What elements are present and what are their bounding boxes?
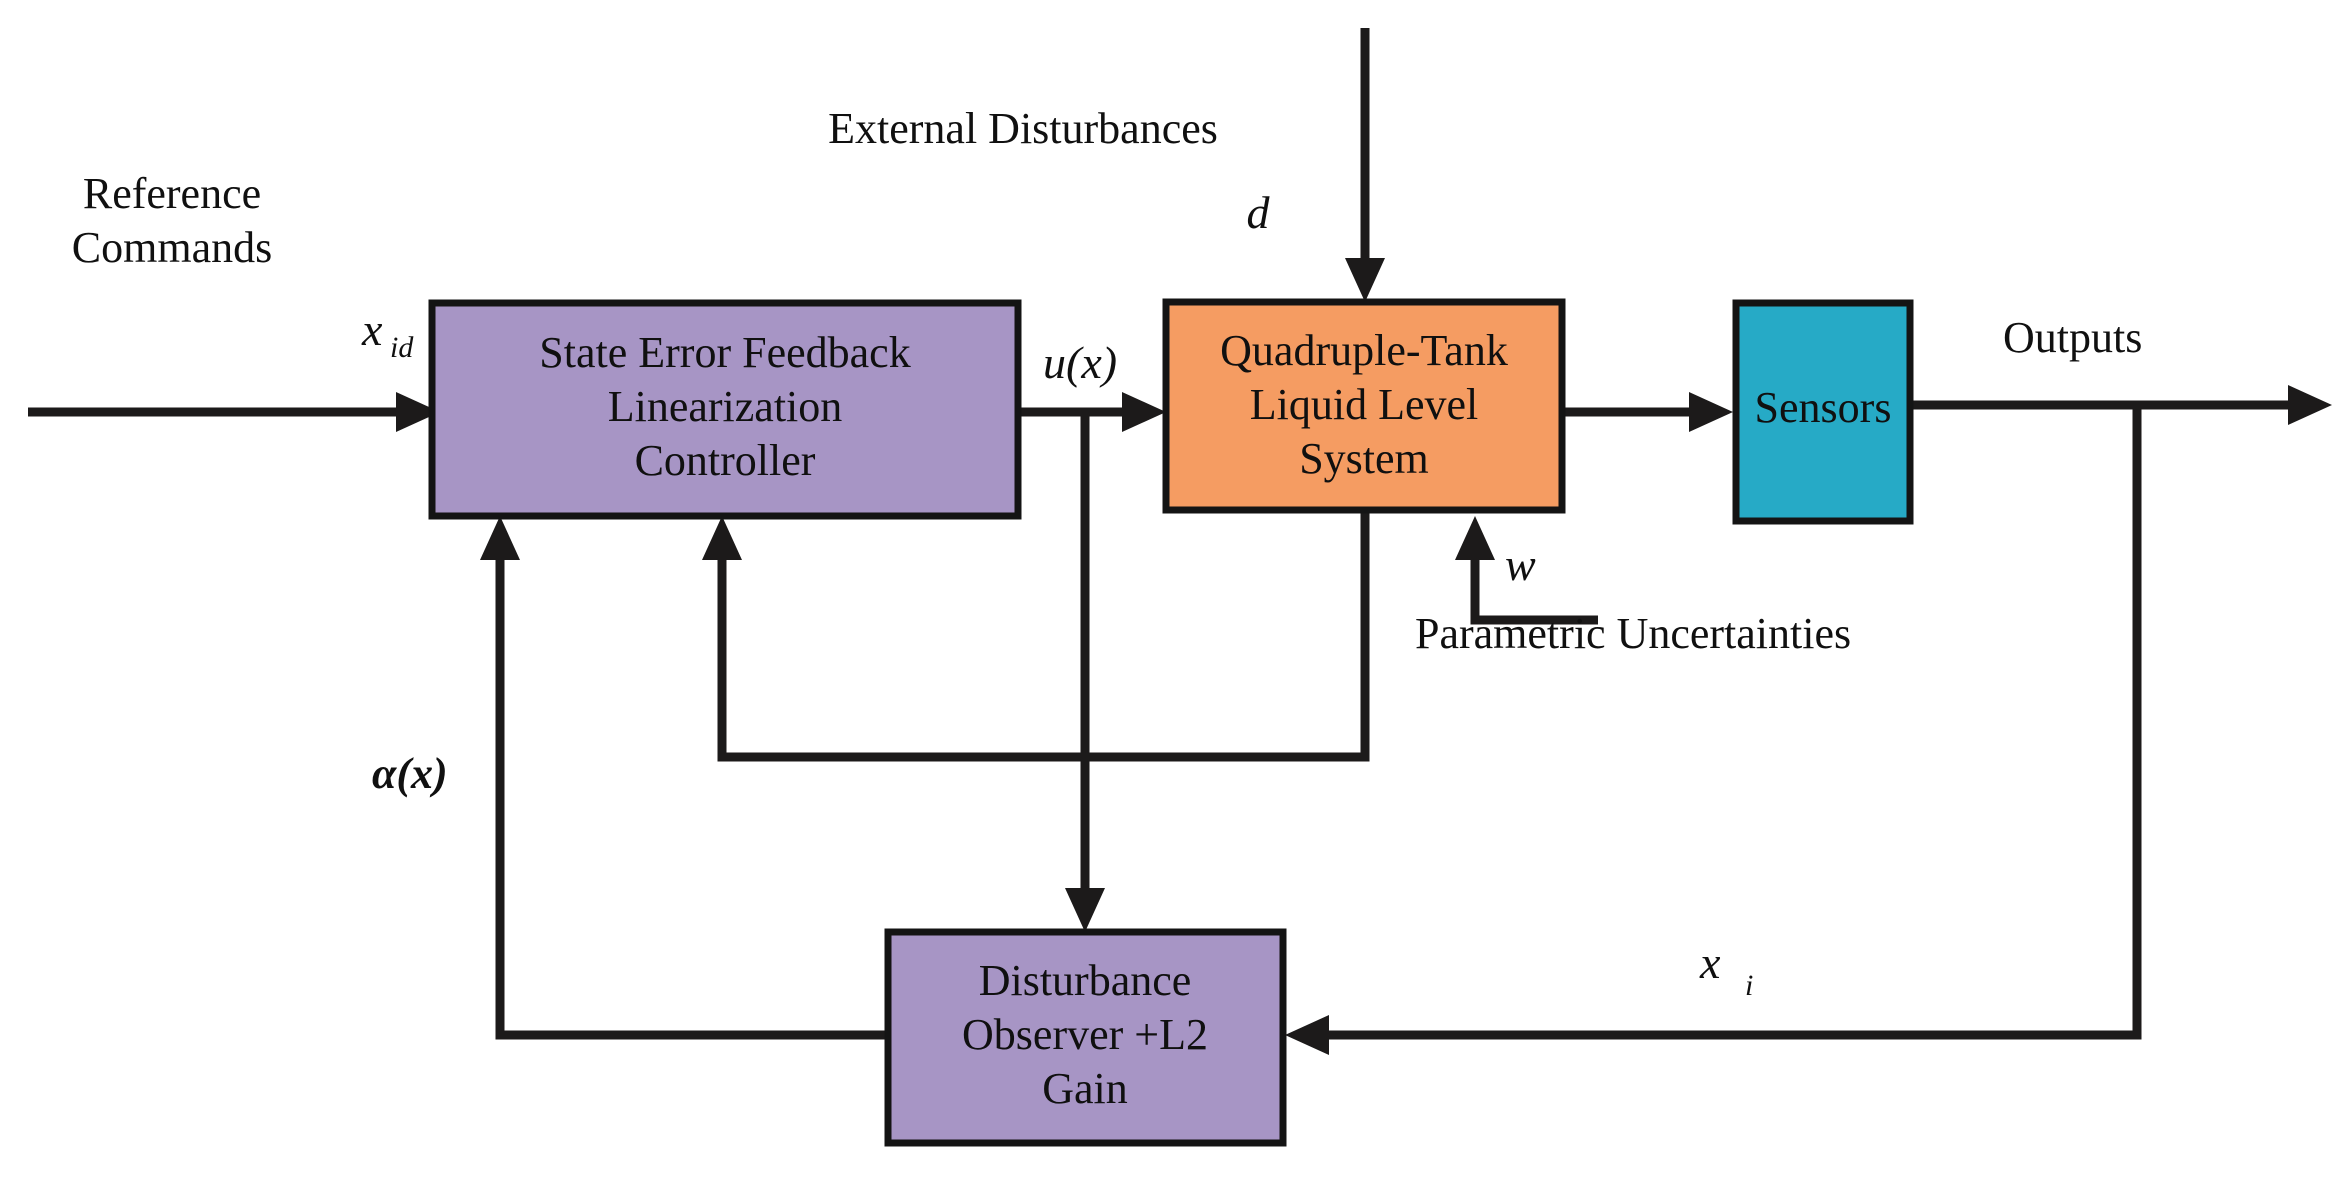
- wire-u-branch-to-observer: [1065, 412, 1105, 932]
- plant-label-line-2: Liquid Level: [1250, 380, 1479, 429]
- block-disturbance-observer-l2-gain[interactable]: Disturbance Observer +L2 Gain: [888, 932, 1283, 1143]
- reference-commands-label-line-2: Commands: [72, 223, 272, 272]
- controller-label-line-3: Controller: [635, 436, 816, 485]
- block-diagram-canvas: State Error Feedback Linearization Contr…: [0, 0, 2348, 1183]
- alpha-signal-label: α(x): [372, 749, 448, 798]
- observer-label-line-3: Gain: [1042, 1064, 1128, 1113]
- block-sensors[interactable]: Sensors: [1736, 303, 1910, 521]
- outputs-label: Outputs: [2003, 313, 2142, 362]
- uncertainty-signal-label: w: [1505, 539, 1536, 590]
- plant-label-line-1: Quadruple-Tank: [1220, 326, 1508, 375]
- wire-controller-to-plant: [1018, 392, 1166, 432]
- x-id-base: x: [361, 304, 383, 355]
- x-id-subscript: id: [390, 331, 414, 364]
- sensors-label: Sensors: [1755, 383, 1892, 432]
- reference-commands-label-line-1: Reference: [83, 169, 261, 218]
- x-i-base: x: [1699, 937, 1721, 988]
- controller-label-line-2: Linearization: [608, 382, 843, 431]
- wire-plant-to-sensors: [1562, 392, 1733, 432]
- plant-label-line-3: System: [1299, 434, 1429, 483]
- block-state-error-feedback-linearization-controller[interactable]: State Error Feedback Linearization Contr…: [432, 303, 1018, 516]
- parametric-uncertainties-label: Parametric Uncertainties: [1415, 609, 1851, 658]
- observer-label-line-2: Observer +L2: [962, 1010, 1208, 1059]
- controller-label-line-1: State Error Feedback: [539, 328, 910, 377]
- observer-label-line-1: Disturbance: [979, 956, 1192, 1005]
- signal-label-x-id: x id: [361, 304, 414, 364]
- control-signal-label: u(x): [1043, 337, 1117, 388]
- block-quadruple-tank-liquid-level-system[interactable]: Quadruple-Tank Liquid Level System: [1166, 302, 1562, 510]
- x-i-subscript: i: [1745, 969, 1753, 1002]
- external-disturbances-label: External Disturbances: [828, 104, 1218, 153]
- wire-observer-alpha-to-controller: [480, 516, 888, 1035]
- wire-plant-state-to-controller: [702, 510, 1365, 757]
- wire-sensors-output: [1910, 385, 2332, 425]
- diagram-svg: State Error Feedback Linearization Contr…: [0, 0, 2348, 1183]
- wire-disturbance-to-plant: [1345, 28, 1385, 302]
- signal-label-x-i: x i: [1699, 937, 1753, 1002]
- wire-reference-to-controller: [28, 392, 440, 432]
- disturbance-signal-label: d: [1247, 187, 1271, 238]
